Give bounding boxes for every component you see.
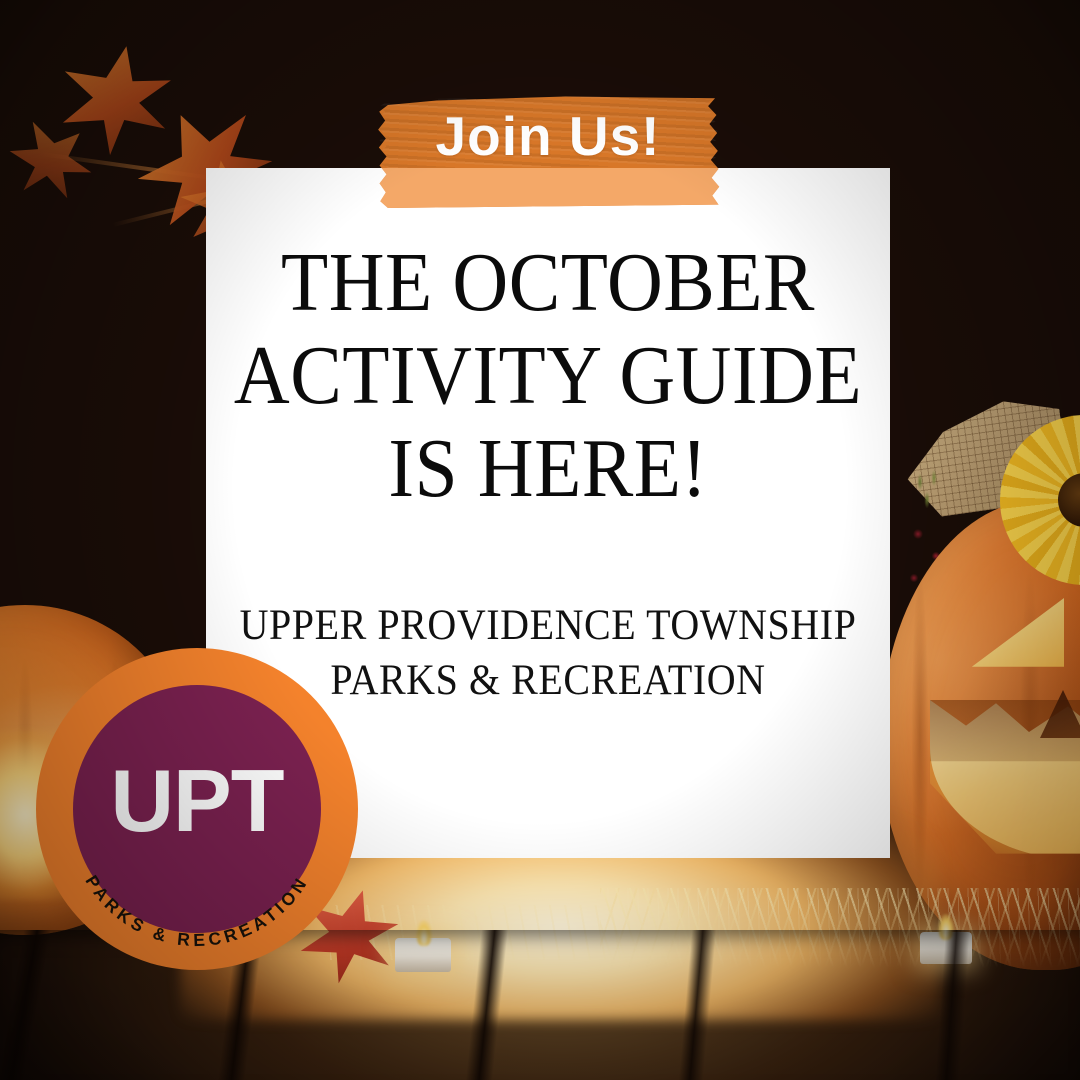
headline-line-2: ACTIVITY GUIDE (233, 329, 862, 422)
upt-logo: UPT PARKS & RECREATION (36, 648, 358, 970)
sunflower-icon (1000, 415, 1080, 585)
logo-arc-text: PARKS & RECREATION (36, 648, 358, 970)
logo-arc-label: PARKS & RECREATION (81, 872, 312, 951)
join-us-banner: Join Us! (374, 96, 722, 208)
headline-line-3: IS HERE! (233, 422, 862, 515)
banner-label: Join Us! (374, 96, 722, 176)
page-title: THE OCTOBER ACTIVITY GUIDE IS HERE! (233, 236, 862, 516)
poster-canvas: THE OCTOBER ACTIVITY GUIDE IS HERE! UPPE… (0, 0, 1080, 1080)
headline-line-1: THE OCTOBER (233, 236, 862, 329)
